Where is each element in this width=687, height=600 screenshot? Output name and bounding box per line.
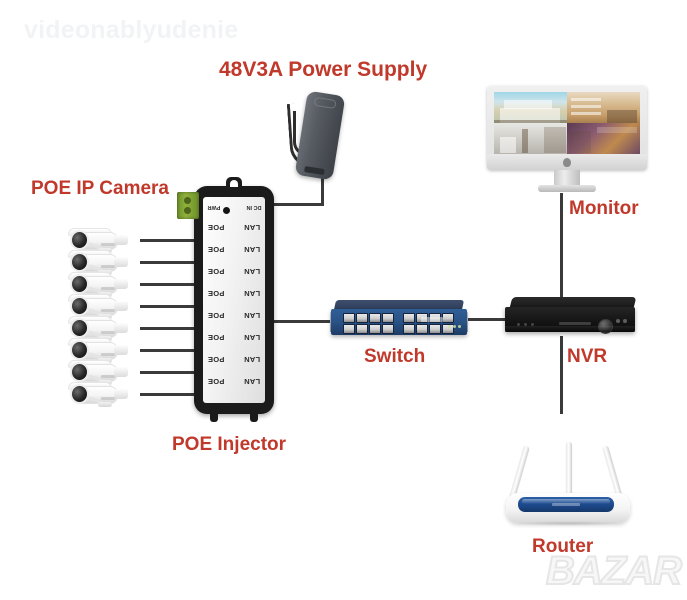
cable-camera-4 — [140, 305, 198, 308]
switch-port-pair[interactable] — [442, 313, 454, 334]
camera-lens-icon — [70, 318, 89, 338]
injector-foot-left — [210, 413, 218, 422]
power-supply-device[interactable] — [289, 93, 339, 181]
rj45-port-icon[interactable] — [403, 313, 415, 323]
injector-lan-port-8[interactable]: LAN — [242, 377, 262, 386]
nvr-device[interactable] — [505, 297, 635, 337]
camera-lens-icon — [70, 274, 89, 294]
camera-logo — [101, 309, 115, 312]
camera-lens-icon — [70, 384, 89, 404]
camera-tail — [114, 301, 128, 311]
status-led-icon — [453, 325, 456, 328]
cable-nvr-to-router — [560, 336, 563, 414]
rj45-port-icon[interactable] — [343, 313, 355, 323]
rj45-port-icon[interactable] — [416, 324, 428, 334]
injector-lan-port-column: LAN LAN LAN LAN LAN LAN LAN LAN — [242, 219, 262, 399]
switch-port-pair[interactable] — [343, 313, 355, 334]
camera-tail — [114, 323, 128, 333]
nvr-buttons[interactable] — [616, 319, 627, 323]
rj45-port-icon[interactable] — [403, 324, 415, 334]
cable-camera-8 — [140, 393, 198, 396]
switch-port-bank-1 — [343, 313, 394, 334]
camera-lens-icon — [70, 230, 89, 250]
injector-poe-port-5[interactable]: POE — [206, 311, 226, 320]
camera-logo — [101, 243, 115, 246]
label-switch: Switch — [364, 346, 425, 368]
switch-port-pair[interactable] — [356, 313, 368, 334]
nvr-button-icon[interactable] — [616, 319, 620, 323]
injector-poe-port-7[interactable]: POE — [206, 355, 226, 364]
switch-port-pair[interactable] — [403, 313, 415, 334]
poe-injector-device[interactable]: PWR DC IN POE POE POE POE POE POE POE PO… — [194, 186, 274, 414]
monitor-stand-neck — [554, 170, 580, 186]
router-shadow — [514, 521, 622, 526]
injector-foot-right — [250, 413, 258, 422]
camera-logo — [101, 353, 115, 356]
label-nvr: NVR — [567, 346, 607, 368]
monitor-bezel — [487, 86, 647, 170]
camera-mount — [98, 402, 112, 407]
injector-power-terminal[interactable] — [177, 192, 199, 219]
camera-tail — [114, 389, 128, 399]
monitor-quadrant-3 — [494, 123, 567, 154]
injector-lan-port-1[interactable]: LAN — [242, 223, 262, 232]
cable-camera-5 — [140, 327, 198, 330]
rj45-port-icon[interactable] — [356, 313, 368, 323]
injector-lan-port-4[interactable]: LAN — [242, 289, 262, 298]
injector-lan-port-2[interactable]: LAN — [242, 245, 262, 254]
power-supply-label-plate — [314, 97, 337, 109]
nvr-button-icon[interactable] — [623, 319, 627, 323]
switch-port-pair[interactable] — [382, 313, 394, 334]
cable-injector-to-psu-h — [272, 203, 324, 206]
router-device[interactable] — [496, 444, 640, 528]
rj45-port-icon[interactable] — [429, 324, 441, 334]
injector-poe-port-column: POE POE POE POE POE POE POE POE — [206, 219, 226, 399]
rj45-port-icon[interactable] — [382, 324, 394, 334]
cable-switch-to-nvr — [464, 318, 508, 321]
injector-poe-port-3[interactable]: POE — [206, 267, 226, 276]
injector-dc-label: DC IN — [245, 203, 263, 210]
label-poe-injector: POE Injector — [172, 434, 286, 456]
camera-tail — [114, 257, 128, 267]
injector-lan-port-3[interactable]: LAN — [242, 267, 262, 276]
camera-logo — [101, 287, 115, 290]
switch-port-pair[interactable] — [369, 313, 381, 334]
monitor-stand-base — [538, 185, 596, 192]
camera-lens-icon — [70, 362, 89, 382]
cable-camera-3 — [140, 283, 198, 286]
monitor-device[interactable] — [487, 86, 647, 194]
switch-front-panel — [331, 309, 467, 335]
router-brand-mark — [552, 503, 580, 506]
power-supply-dc-jack — [304, 166, 325, 175]
camera-logo — [101, 265, 115, 268]
diagram-canvas: videonablyudenie BAZAR — [0, 0, 687, 600]
cable-camera-2 — [140, 261, 198, 264]
injector-lan-port-5[interactable]: LAN — [242, 311, 262, 320]
status-led-icon — [458, 325, 461, 328]
nvr-bottom-shade — [505, 326, 635, 332]
camera-logo — [101, 331, 115, 334]
cable-camera-1 — [140, 239, 198, 242]
camera-tail — [114, 345, 128, 355]
label-router: Router — [532, 536, 593, 558]
rj45-port-icon[interactable] — [369, 324, 381, 334]
monitor-screen[interactable] — [494, 92, 640, 154]
camera-lens-icon — [70, 340, 89, 360]
injector-lan-port-7[interactable]: LAN — [242, 355, 262, 364]
injector-poe-port-4[interactable]: POE — [206, 289, 226, 298]
label-power-supply: 48V3A Power Supply — [219, 58, 427, 82]
rj45-port-icon[interactable] — [343, 324, 355, 334]
nvr-button-strip[interactable] — [559, 322, 591, 325]
injector-power-label: PWR — [205, 203, 223, 210]
rj45-port-icon[interactable] — [369, 313, 381, 323]
injector-poe-port-2[interactable]: POE — [206, 245, 226, 254]
monitor-quadrant-2 — [567, 92, 640, 123]
camera-lens-icon — [70, 252, 89, 272]
apple-logo-icon — [563, 158, 571, 167]
injector-poe-port-6[interactable]: POE — [206, 333, 226, 342]
label-monitor: Monitor — [569, 198, 639, 220]
camera-logo — [101, 397, 115, 400]
cable-camera-6 — [140, 349, 198, 352]
site-watermark: videonablyudenie — [24, 16, 238, 45]
injector-faceplate: PWR DC IN POE POE POE POE POE POE POE PO… — [203, 197, 265, 403]
cable-nvr-to-monitor — [560, 193, 563, 299]
injector-poe-port-1[interactable]: POE — [206, 223, 226, 232]
camera-tail — [114, 279, 128, 289]
network-switch-device[interactable] — [331, 300, 467, 340]
poe-camera-8[interactable] — [62, 380, 140, 410]
camera-logo — [101, 375, 115, 378]
switch-brand-mark — [421, 317, 443, 322]
nvr-front-panel — [505, 307, 635, 332]
camera-tail — [114, 367, 128, 377]
cable-camera-7 — [140, 371, 198, 374]
rj45-port-icon[interactable] — [356, 324, 368, 334]
injector-lan-port-6[interactable]: LAN — [242, 333, 262, 342]
monitor-quadrant-4 — [567, 123, 640, 154]
injector-poe-port-8[interactable]: POE — [206, 377, 226, 386]
switch-status-leds — [448, 325, 461, 328]
injector-hanger-tab — [226, 177, 242, 189]
camera-lens-icon — [70, 296, 89, 316]
label-poe-ip-camera: POE IP Camera — [31, 178, 169, 200]
cable-injector-to-switch — [272, 320, 334, 323]
camera-tail — [114, 235, 128, 245]
rj45-port-icon[interactable] — [382, 313, 394, 323]
rj45-port-icon[interactable] — [442, 313, 454, 323]
status-led-icon — [448, 325, 451, 328]
monitor-quadrant-1 — [494, 92, 567, 123]
injector-power-led-icon — [223, 207, 230, 214]
